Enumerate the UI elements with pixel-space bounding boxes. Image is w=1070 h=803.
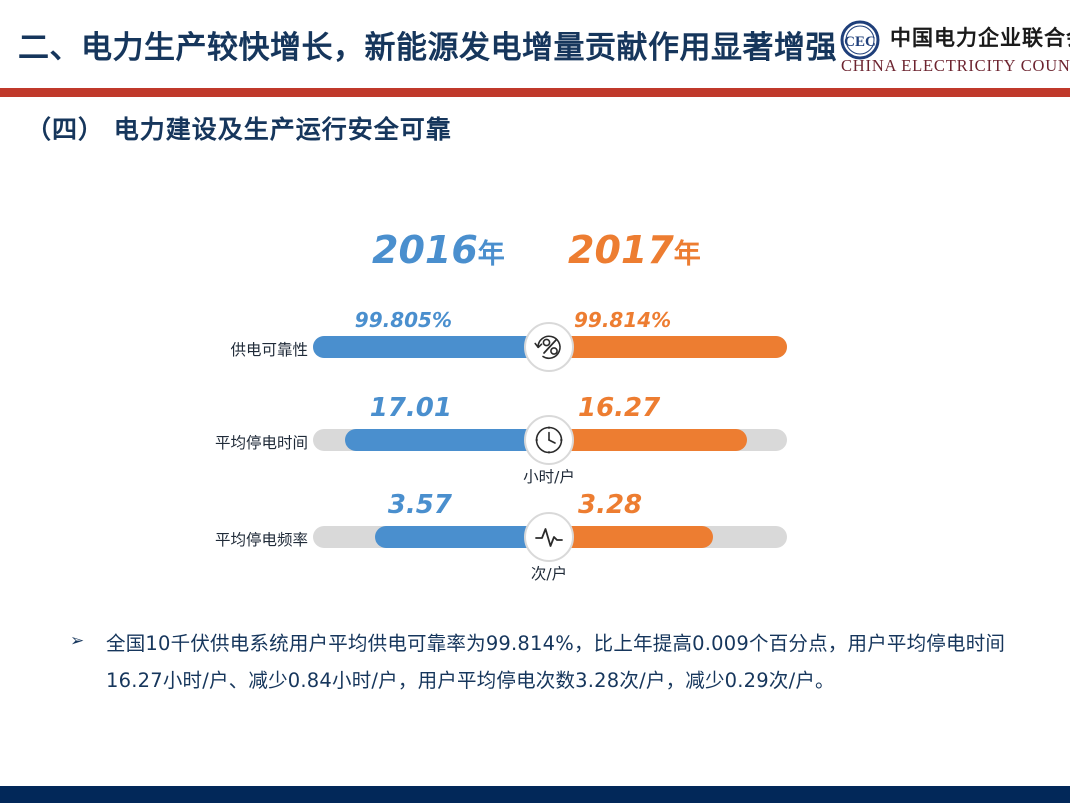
legend-item-2017: 2017年 (568, 228, 701, 272)
value-2016: 3.57 (332, 490, 452, 520)
bar-2017 (549, 336, 787, 358)
row-label: 供电可靠性 (190, 338, 308, 360)
organization-logo: CEC 中国电力企业联合会 CHINA ELECTRICITY COUNCIL (840, 18, 1066, 80)
value-2017: 3.28 (578, 490, 718, 520)
unit-label: 次/户 (489, 562, 609, 584)
header-divider-rule (0, 88, 1070, 97)
legend-2017-year: 2017 (568, 228, 674, 272)
summary-text: 全国10千伏供电系统用户平均供电可靠率为99.814%，比上年提高0.009个百… (106, 625, 1006, 699)
legend-2016-year: 2016 (372, 228, 478, 272)
section-title: （四） 电力建设及生产运行安全可靠 (26, 110, 452, 146)
chart-legend: 2016年 2017年 (330, 228, 750, 284)
chart-row: 平均停电时间 17.01 16.27 小时/户 (0, 393, 1070, 489)
value-2017: 16.27 (578, 393, 718, 423)
bar-2017 (549, 429, 747, 451)
slide-header: 二、电力生产较快增长，新能源发电增量贡献作用显著增强 CEC 中国电力企业联合会… (0, 0, 1070, 88)
cec-emblem-icon: CEC (840, 20, 880, 60)
percent-refresh-icon (524, 322, 574, 372)
row-label: 平均停电时间 (190, 431, 308, 453)
chart-row: 供电可靠性 99.805% 99.814% (0, 300, 1070, 396)
page-title: 二、电力生产较快增长，新能源发电增量贡献作用显著增强 (18, 22, 837, 67)
slide-footer-bar (0, 786, 1070, 803)
logo-english-name: CHINA ELECTRICITY COUNCIL (841, 56, 1070, 76)
row-label: 平均停电频率 (190, 528, 308, 550)
value-2016: 17.01 (332, 393, 452, 423)
bar-2016 (345, 429, 549, 451)
bar-2016 (313, 336, 549, 358)
pulse-icon (524, 512, 574, 562)
value-2016: 99.805% (332, 308, 452, 332)
bar-2016 (375, 526, 549, 548)
svg-text:CEC: CEC (844, 34, 876, 50)
value-2017: 99.814% (574, 308, 714, 332)
legend-item-2016: 2016年 (372, 228, 505, 272)
comparison-chart: 供电可靠性 99.805% 99.814% 平均停电时间 17.01 16.27 (0, 300, 1070, 600)
clock-icon (524, 415, 574, 465)
logo-chinese-name: 中国电力企业联合会 (890, 22, 1070, 52)
bullet-arrow-icon: ➢ (70, 631, 84, 651)
unit-label: 小时/户 (489, 465, 609, 487)
legend-2016-suffix: 年 (478, 239, 505, 270)
chart-row: 平均停电频率 3.57 3.28 次/户 (0, 490, 1070, 586)
legend-2017-suffix: 年 (674, 239, 701, 270)
